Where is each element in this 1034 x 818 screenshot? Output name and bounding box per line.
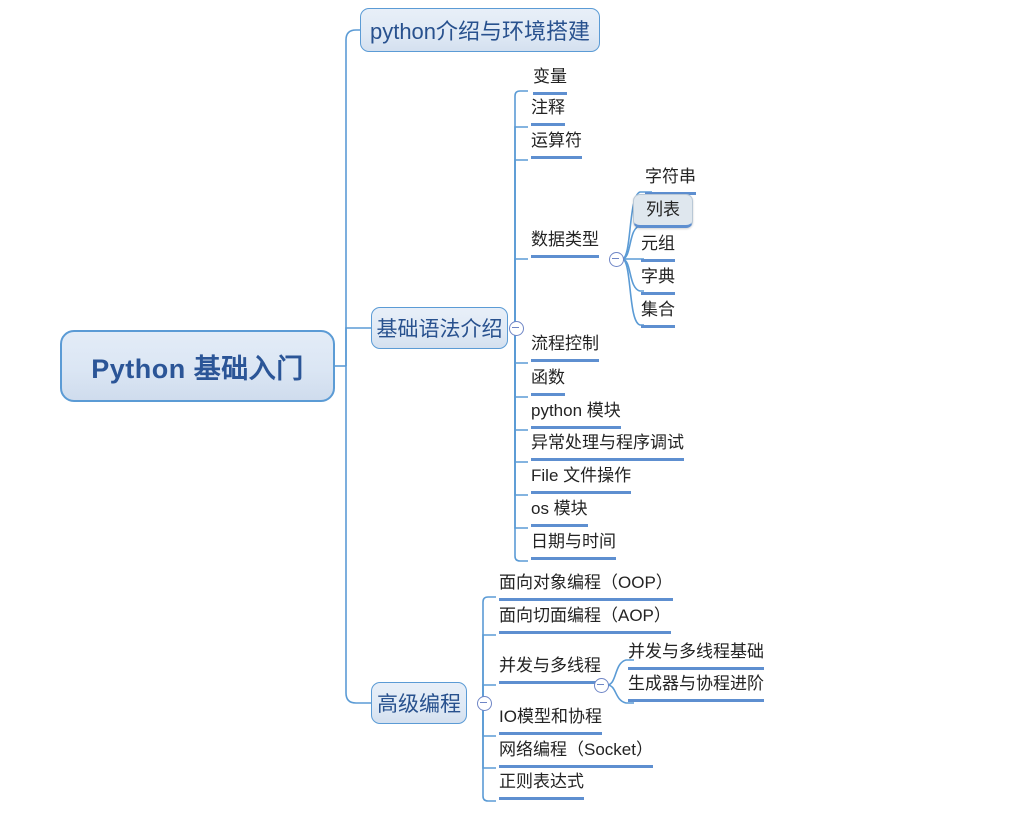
leaf-node-io-model[interactable]: IO模型和协程 [499, 708, 602, 735]
leaf-node-aop[interactable]: 面向切面编程（AOP） [499, 607, 671, 634]
leaf-node-python-module[interactable]: python 模块 [531, 402, 621, 429]
leaf-node-shujuleixing[interactable]: 数据类型 [531, 231, 599, 258]
branch-node-intro[interactable]: python介绍与环境搭建 [360, 8, 600, 52]
collapse-toggle-basic[interactable] [509, 321, 524, 336]
leaf-node-dict[interactable]: 字典 [641, 268, 675, 295]
leaf-node-hanshu[interactable]: 函数 [531, 369, 565, 396]
branch-node-advanced-label: 高级编程 [377, 688, 461, 718]
collapse-toggle-concurrency[interactable] [594, 678, 609, 693]
leaf-node-liuchengkongzhi[interactable]: 流程控制 [531, 335, 599, 362]
leaf-node-concurrency-basics[interactable]: 并发与多线程基础 [628, 643, 764, 670]
leaf-node-regex[interactable]: 正则表达式 [499, 773, 584, 800]
leaf-node-list-selected[interactable]: 列表 [633, 194, 693, 228]
leaf-node-socket[interactable]: 网络编程（Socket） [499, 741, 653, 768]
branch-node-basic-label: 基础语法介绍 [377, 313, 503, 343]
leaf-node-date-time[interactable]: 日期与时间 [531, 533, 616, 560]
branch-node-basic[interactable]: 基础语法介绍 [371, 307, 508, 349]
branch-node-intro-label: python介绍与环境搭建 [370, 14, 590, 46]
leaf-node-set[interactable]: 集合 [641, 301, 675, 328]
collapse-toggle-shujuleixing[interactable] [609, 252, 624, 267]
root-node-label: Python 基础入门 [91, 347, 304, 386]
leaf-node-tuple[interactable]: 元组 [641, 235, 675, 262]
leaf-node-string[interactable]: 字符串 [645, 168, 696, 195]
connector-lines [0, 0, 1034, 818]
leaf-node-bianliang[interactable]: 变量 [533, 68, 567, 95]
branch-node-advanced[interactable]: 高级编程 [371, 682, 467, 724]
leaf-node-exception-debug[interactable]: 异常处理与程序调试 [531, 434, 684, 461]
leaf-node-yunsuanfu[interactable]: 运算符 [531, 132, 582, 159]
collapse-toggle-advanced[interactable] [477, 696, 492, 711]
leaf-node-os-module[interactable]: os 模块 [531, 500, 588, 527]
mindmap-canvas: Python 基础入门 python介绍与环境搭建 基础语法介绍 高级编程 变量… [0, 0, 1034, 818]
leaf-node-oop[interactable]: 面向对象编程（OOP） [499, 574, 673, 601]
leaf-node-concurrency[interactable]: 并发与多线程 [499, 657, 601, 684]
leaf-node-file-operation[interactable]: File 文件操作 [531, 467, 631, 494]
leaf-node-zhushi[interactable]: 注释 [531, 99, 565, 126]
leaf-node-generator-coroutine[interactable]: 生成器与协程进阶 [628, 675, 764, 702]
root-node[interactable]: Python 基础入门 [60, 330, 335, 402]
